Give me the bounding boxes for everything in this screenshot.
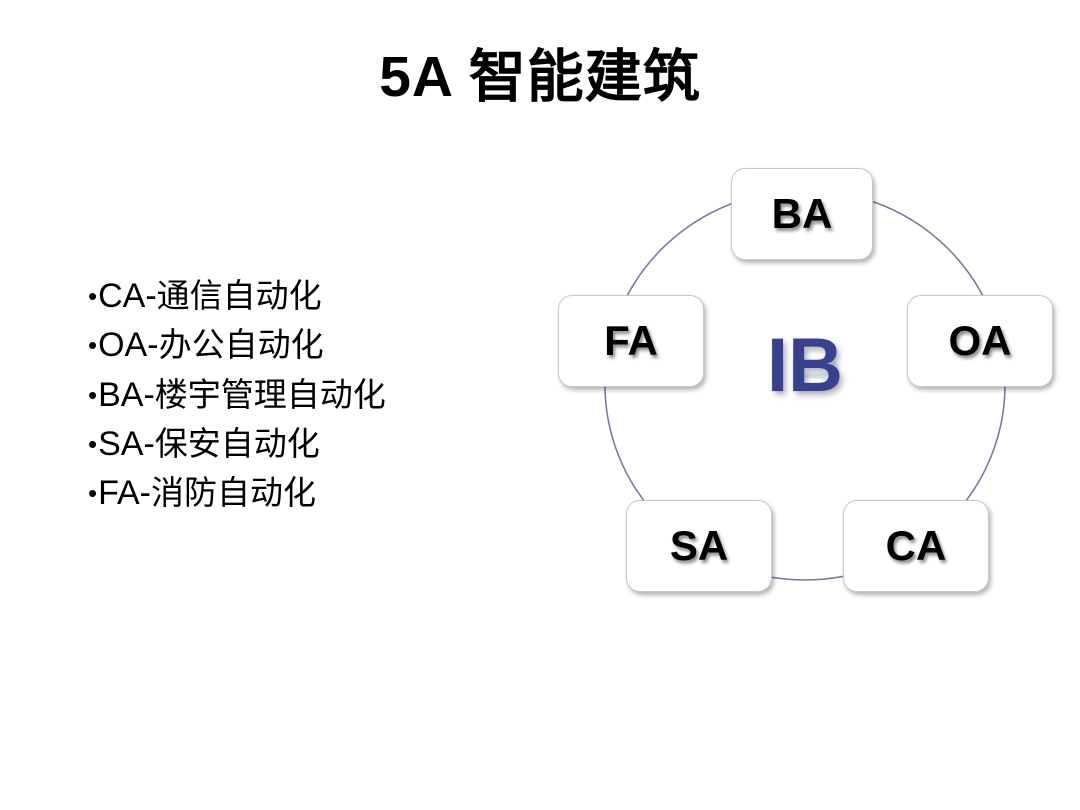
list-item-label: 办公自动化 <box>159 325 324 364</box>
list-item-code: SA- <box>98 425 155 463</box>
list-item: •OA-办公自动化 <box>88 321 538 370</box>
list-item-label: 保安自动化 <box>155 424 320 463</box>
list-item: •BA-楼宇管理自动化 <box>88 371 538 420</box>
center-label: IB <box>720 328 890 404</box>
bullet-list: •CA-通信自动化 •OA-办公自动化 •BA-楼宇管理自动化 •SA-保安自动… <box>88 272 538 518</box>
list-item: •SA-保安自动化 <box>88 420 538 469</box>
list-item-code: BA- <box>98 376 155 414</box>
diagram-node-sa[interactable]: SA <box>626 500 772 592</box>
list-item: •FA-消防自动化 <box>88 469 538 518</box>
list-item-code: FA- <box>98 474 151 512</box>
list-item-label: 通信自动化 <box>157 276 322 315</box>
bullet-marker: • <box>88 478 97 508</box>
diagram-node-ca[interactable]: CA <box>843 500 989 592</box>
bullet-marker: • <box>88 429 97 459</box>
bullet-marker: • <box>88 330 97 360</box>
diagram-node-ba[interactable]: BA <box>731 168 873 260</box>
list-item-code: OA- <box>98 326 158 364</box>
list-item-label: 消防自动化 <box>151 473 316 512</box>
diagram-node-oa[interactable]: OA <box>907 295 1053 387</box>
diagram-node-ba-label: BA <box>772 190 833 238</box>
diagram-node-oa-label: OA <box>949 317 1012 365</box>
list-item-label: 楼宇管理自动化 <box>155 375 386 414</box>
cycle-diagram: IB IB BA OA CA SA FA <box>540 140 1080 620</box>
diagram-node-sa-label: SA <box>670 522 728 570</box>
page-title: 5A 智能建筑 <box>0 46 1080 109</box>
diagram-node-ca-label: CA <box>886 522 947 570</box>
bullet-marker: • <box>88 281 97 311</box>
list-item: •CA-通信自动化 <box>88 272 538 321</box>
diagram-node-fa[interactable]: FA <box>558 295 704 387</box>
diagram-node-fa-label: FA <box>604 317 658 365</box>
list-item-code: CA- <box>98 277 157 315</box>
bullet-marker: • <box>88 380 97 410</box>
